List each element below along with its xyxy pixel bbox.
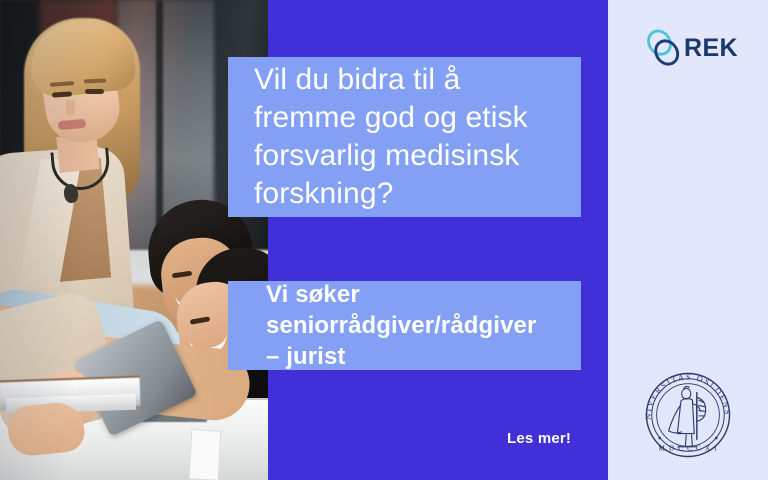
read-more-link[interactable]: Les mer! — [507, 430, 571, 447]
photo-woman-nose — [66, 100, 75, 116]
rek-logo[interactable]: REK — [646, 25, 738, 71]
uio-seal[interactable]: UNIVERSITAS OSLOENSIS M D C C C X I — [635, 362, 741, 468]
job-title-text: Vi søker seniorrådgiver/rådgiver – juris… — [228, 279, 581, 372]
headline-text: Vil du bidra til å fremme god og etisk f… — [228, 61, 581, 213]
photo-woman-brow-right — [84, 79, 106, 84]
photo-woman2-hand — [6, 400, 87, 458]
photo-paper — [189, 429, 222, 480]
headline-box: Vil du bidra til å fremme god og etisk f… — [228, 57, 581, 217]
uio-seal-year: M D C C C X I — [658, 443, 717, 452]
recruitment-banner: Vil du bidra til å fremme god og etisk f… — [0, 0, 768, 480]
photo-woman-eye-right — [85, 89, 104, 94]
uio-seal-arc-text: UNIVERSITAS OSLOENSIS — [635, 362, 732, 420]
rek-wordmark: REK — [684, 34, 738, 63]
job-title-box: Vi søker seniorrådgiver/rådgiver – juris… — [228, 281, 581, 370]
rek-rings-icon — [646, 27, 682, 69]
uio-seal-figure — [669, 386, 706, 446]
